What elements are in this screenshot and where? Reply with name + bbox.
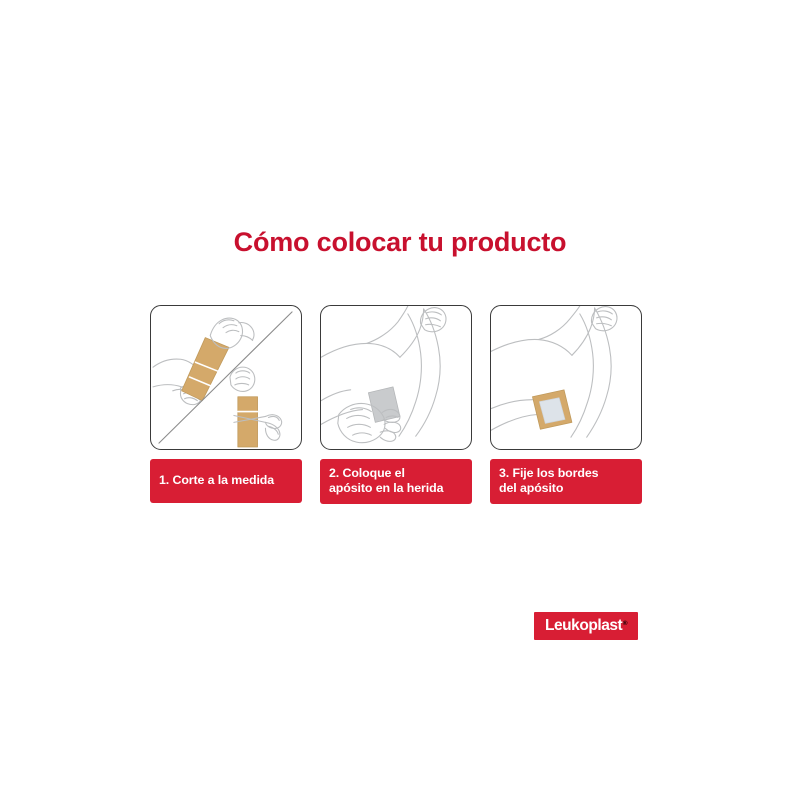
step-1-badge: 1. Corte a la medida xyxy=(150,459,302,503)
step-2-badge: 2. Coloque el apósito en la herida xyxy=(320,459,472,504)
step-1-illustration xyxy=(151,306,301,449)
page-title: Cómo colocar tu producto xyxy=(0,228,800,258)
step-1: 1. Corte a la medida xyxy=(150,305,302,503)
step-3-panel xyxy=(490,305,642,450)
step-3: 3. Fije los bordes del apósito xyxy=(490,305,642,504)
leukoplast-logo-text: Leukoplast xyxy=(545,618,622,634)
step-1-panel xyxy=(150,305,302,450)
leukoplast-logo: Leukoplast® xyxy=(534,612,638,640)
step-3-badge-line-2: del apósito xyxy=(499,481,633,496)
step-3-badge-line-1: 3. Fije los bordes xyxy=(499,466,633,481)
step-1-badge-line-1: 1. Corte a la medida xyxy=(159,473,293,488)
step-2: 2. Coloque el apósito en la herida xyxy=(320,305,472,504)
step-2-badge-line-2: apósito en la herida xyxy=(329,481,463,496)
steps-row: 1. Corte a la medida xyxy=(150,305,642,504)
step-2-badge-line-1: 2. Coloque el xyxy=(329,466,463,481)
registered-trademark-icon: ® xyxy=(623,620,628,627)
instruction-graphic: Cómo colocar tu producto xyxy=(0,0,800,800)
step-3-illustration xyxy=(491,306,641,449)
step-2-illustration xyxy=(321,306,471,449)
step-3-badge: 3. Fije los bordes del apósito xyxy=(490,459,642,504)
step-2-panel xyxy=(320,305,472,450)
